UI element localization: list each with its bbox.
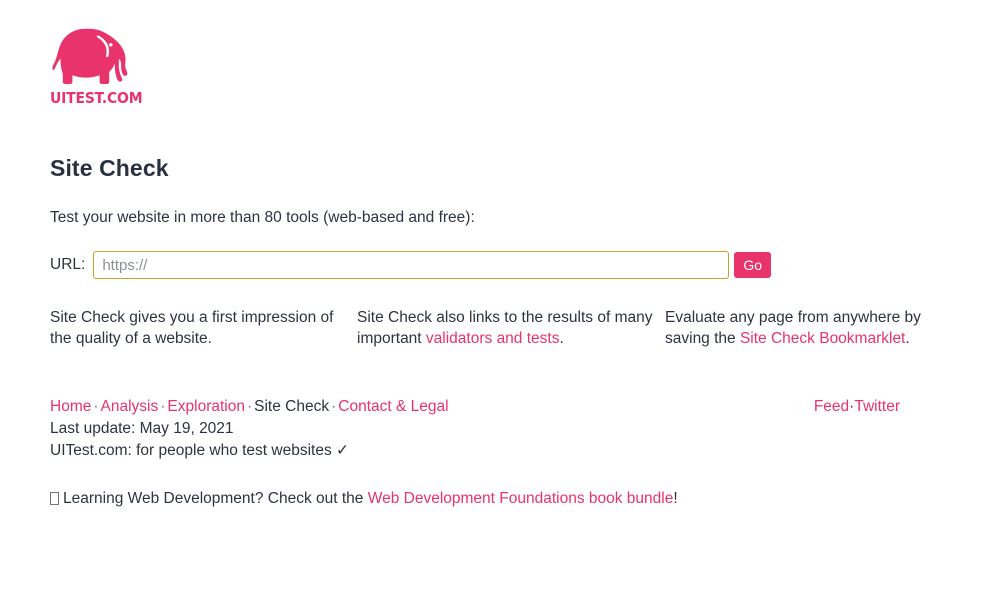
feature-column-2: Site Check also links to the results of … (357, 307, 665, 350)
url-input[interactable] (93, 251, 729, 279)
logo-wordmark: UITEST.COM (50, 90, 138, 107)
site-logo[interactable]: UITEST.COM (50, 0, 145, 107)
footer-link-site-check-current: Site Check (254, 398, 329, 415)
feature-columns: Site Check gives you a first impression … (50, 279, 950, 350)
footer: Home·Analysis·Exploration·Site Check·Con… (50, 350, 950, 462)
promo-banner: Learning Web Development? Check out the … (50, 462, 950, 510)
promo-text: Learning Web Development? Check out the (63, 490, 368, 507)
column-1-text: Site Check gives you a first impression … (50, 309, 333, 347)
footer-tagline: UITest.com: for people who test websites… (50, 440, 950, 462)
footer-link-contact-legal[interactable]: Contact & Legal (338, 398, 448, 415)
page-root: UITEST.COM Site Check Test your website … (0, 0, 1000, 600)
column-3-text-end: . (905, 330, 909, 347)
footer-separator: · (245, 398, 254, 415)
book-bundle-link[interactable]: Web Development Foundations book bundle (368, 490, 674, 507)
url-form: URL: Go (50, 229, 950, 279)
elephant-icon (50, 24, 138, 88)
footer-link-twitter[interactable]: Twitter (854, 398, 900, 415)
page-title: Site Check (50, 107, 950, 183)
footer-link-exploration[interactable]: Exploration (167, 398, 245, 415)
footer-link-home[interactable]: Home (50, 398, 91, 415)
feature-column-3: Evaluate any page from anywhere by savin… (665, 307, 950, 350)
footer-separator: · (329, 398, 338, 415)
footer-social-links: Feed·Twitter (814, 396, 900, 418)
footer-separator: · (91, 398, 100, 415)
footer-link-feed[interactable]: Feed (814, 398, 849, 415)
go-button[interactable]: Go (734, 252, 771, 278)
footer-link-analysis[interactable]: Analysis (101, 398, 159, 415)
feature-column-1: Site Check gives you a first impression … (50, 307, 357, 350)
column-2-text-end: . (559, 330, 563, 347)
footer-last-update: Last update: May 19, 2021 (50, 418, 950, 440)
promo-text-end: ! (673, 490, 677, 507)
missing-glyph-box-icon (50, 492, 59, 505)
url-label: URL: (50, 257, 85, 273)
page-intro: Test your website in more than 80 tools … (50, 182, 950, 229)
validators-and-tests-link[interactable]: validators and tests (426, 330, 560, 347)
site-check-bookmarklet-link[interactable]: Site Check Bookmarklet (740, 330, 905, 347)
content-container: UITEST.COM Site Check Test your website … (50, 0, 950, 509)
